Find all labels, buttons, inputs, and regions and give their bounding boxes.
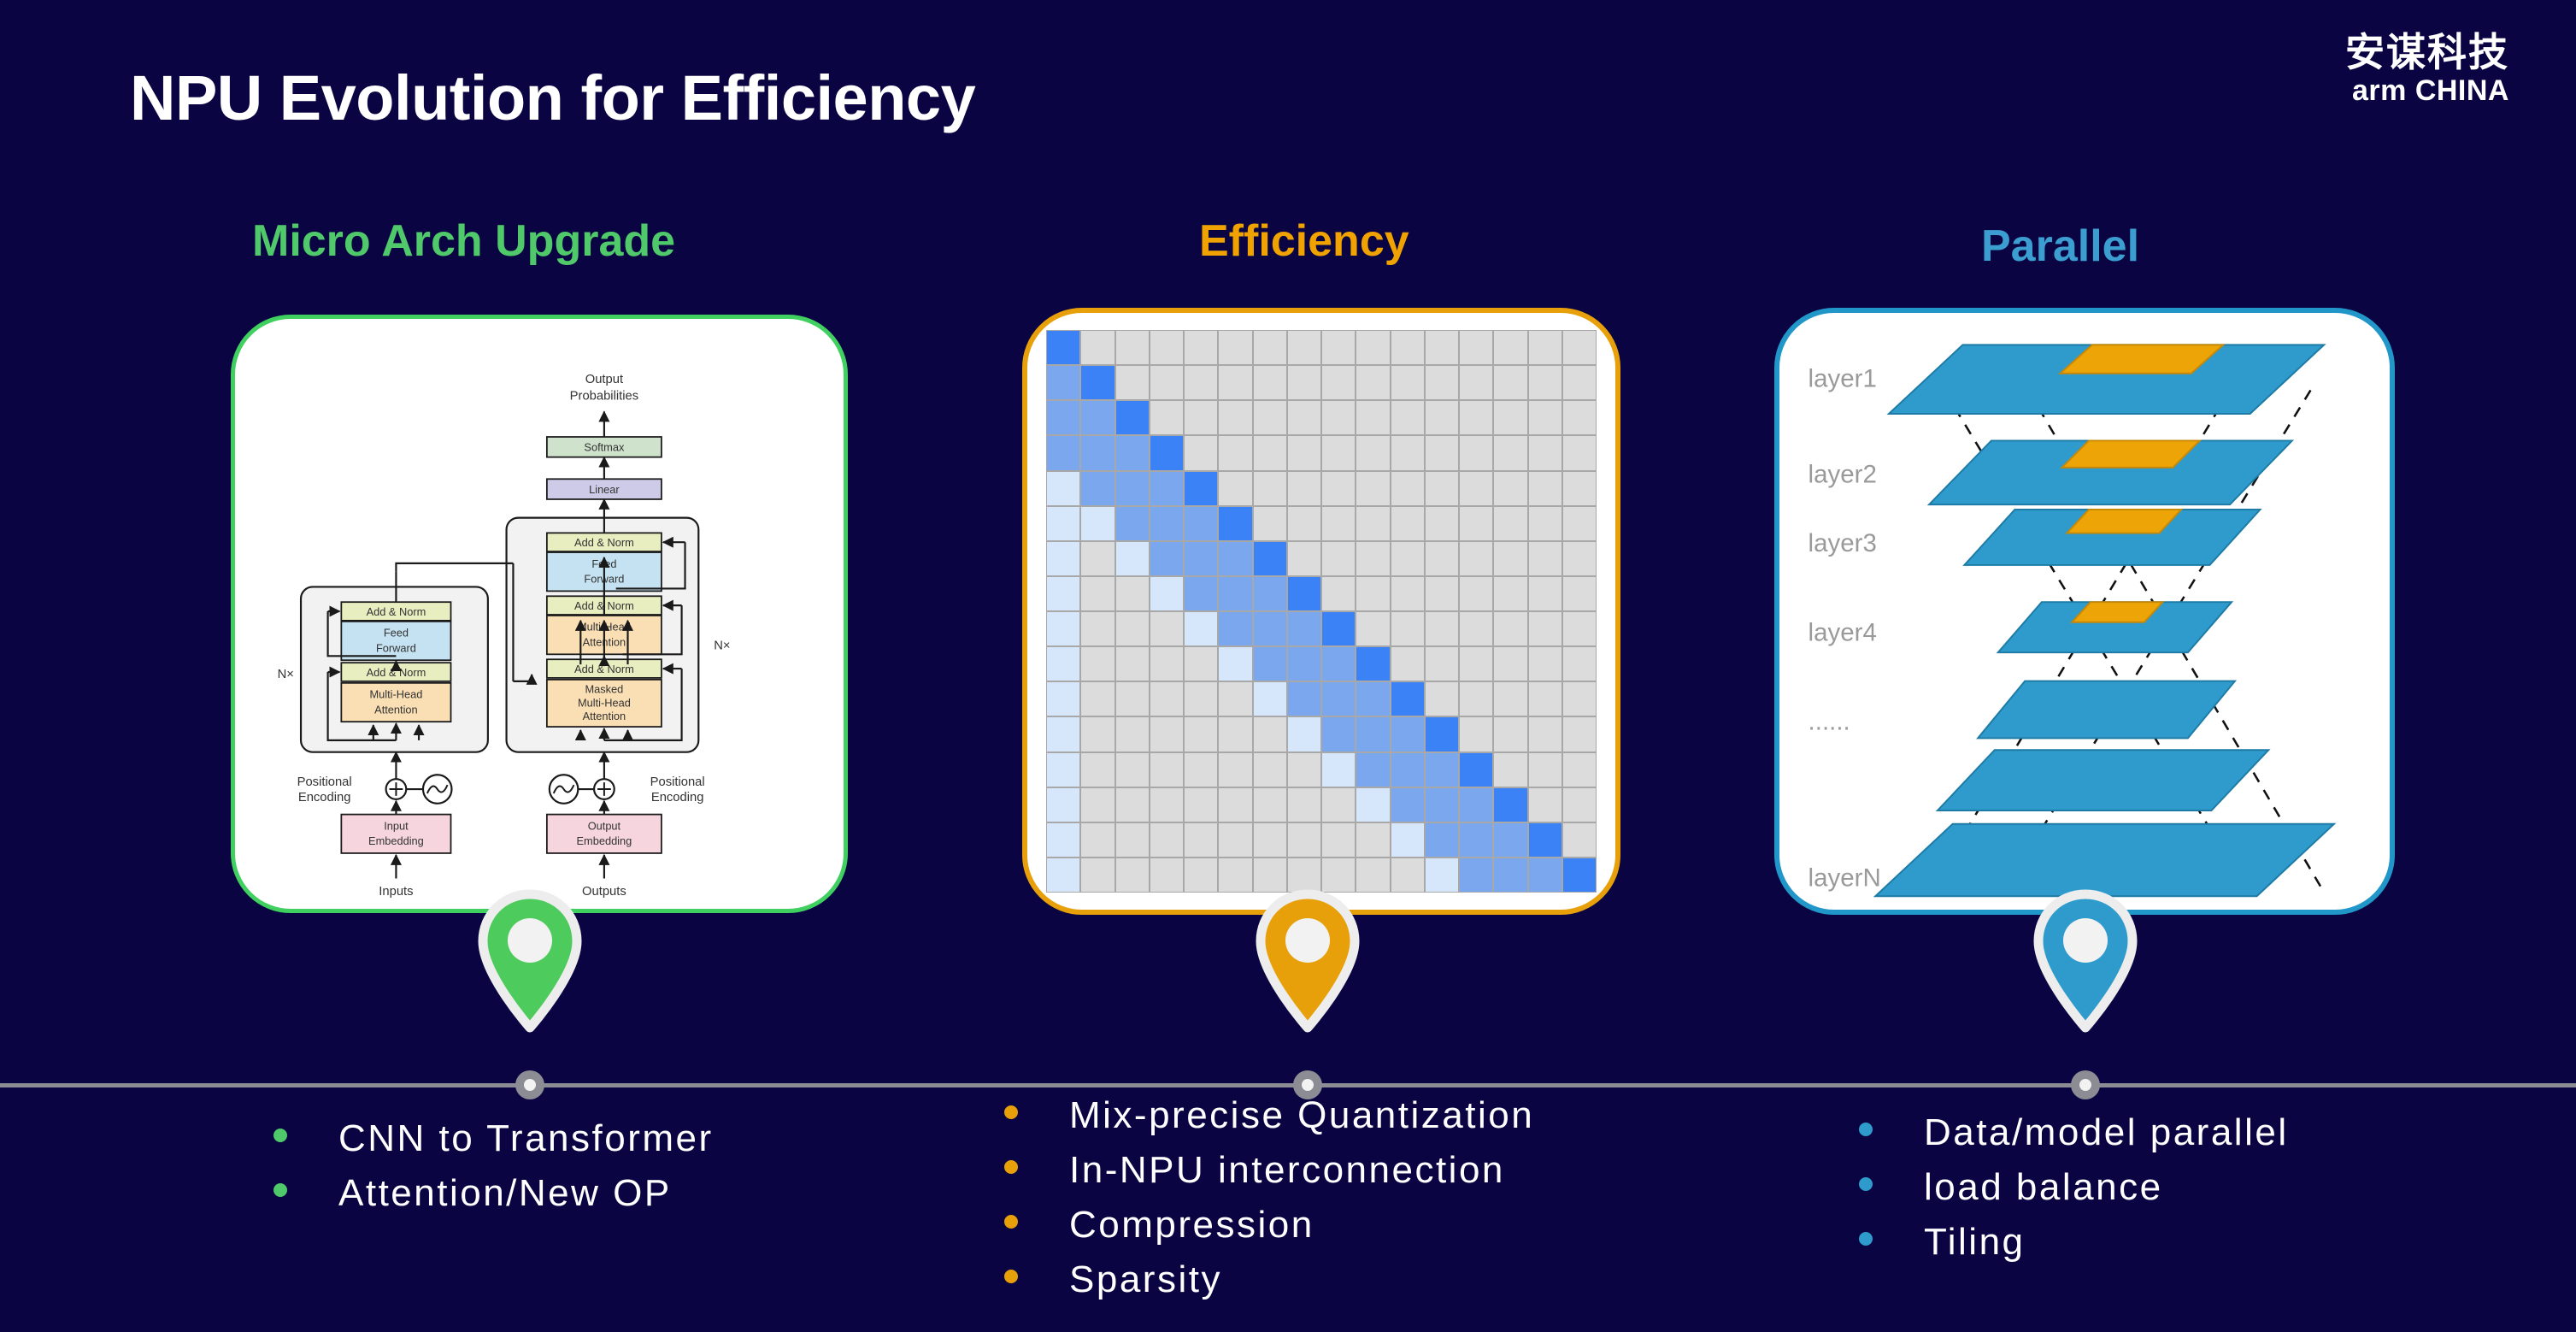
matrix-cell xyxy=(1150,471,1184,506)
attention-mask-grid xyxy=(1046,330,1597,893)
matrix-cell xyxy=(1493,858,1527,893)
matrix-cell xyxy=(1459,471,1493,506)
matrix-cell xyxy=(1391,611,1425,646)
matrix-cell xyxy=(1046,435,1080,470)
timeline-axis xyxy=(0,1083,2576,1087)
matrix-cell xyxy=(1528,646,1562,681)
matrix-cell xyxy=(1287,506,1321,541)
transformer-architecture-figure: Multi-Head Attention Add & Norm Feed For… xyxy=(235,319,844,909)
matrix-cell xyxy=(1321,471,1356,506)
panel-efficiency xyxy=(1022,308,1620,915)
bullet-text: Sparsity xyxy=(1069,1258,1222,1301)
matrix-cell xyxy=(1493,611,1527,646)
matrix-cell xyxy=(1562,646,1597,681)
svg-text:Encoding: Encoding xyxy=(651,791,704,805)
matrix-cell xyxy=(1218,716,1252,751)
matrix-cell xyxy=(1184,681,1218,716)
matrix-cell xyxy=(1528,858,1562,893)
bullet-list-efficiency: Mix-precise QuantizationIn-NPU interconn… xyxy=(1004,1094,1534,1313)
matrix-cell xyxy=(1115,541,1150,576)
matrix-cell xyxy=(1459,611,1493,646)
matrix-cell xyxy=(1184,400,1218,435)
matrix-cell xyxy=(1080,822,1115,858)
matrix-cell xyxy=(1150,752,1184,787)
matrix-cell xyxy=(1562,681,1597,716)
svg-text:Encoding: Encoding xyxy=(298,791,351,805)
matrix-cell xyxy=(1115,681,1150,716)
bullet-dot-icon xyxy=(1004,1270,1018,1283)
matrix-cell xyxy=(1459,365,1493,400)
matrix-cell xyxy=(1150,576,1184,611)
matrix-cell xyxy=(1080,541,1115,576)
matrix-cell xyxy=(1528,400,1562,435)
matrix-cell xyxy=(1425,611,1459,646)
logo-chinese-text: 安谋科技 xyxy=(2345,32,2509,72)
matrix-cell xyxy=(1218,541,1252,576)
matrix-cell xyxy=(1080,400,1115,435)
matrix-cell xyxy=(1425,822,1459,858)
svg-text:Multi-Head: Multi-Head xyxy=(369,688,422,701)
matrix-cell xyxy=(1253,822,1287,858)
svg-text:Attention: Attention xyxy=(583,710,626,722)
matrix-cell xyxy=(1184,471,1218,506)
matrix-cell xyxy=(1115,716,1150,751)
marker-pin-parallel[interactable] xyxy=(2031,889,2140,1033)
matrix-cell xyxy=(1356,611,1390,646)
svg-text:Add & Norm: Add & Norm xyxy=(367,666,426,679)
matrix-cell xyxy=(1080,716,1115,751)
matrix-cell xyxy=(1184,506,1218,541)
bullet-text: Mix-precise Quantization xyxy=(1069,1094,1534,1137)
matrix-cell xyxy=(1150,400,1184,435)
matrix-cell xyxy=(1528,435,1562,470)
matrix-cell xyxy=(1253,646,1287,681)
matrix-cell xyxy=(1459,400,1493,435)
page-title: NPU Evolution for Efficiency xyxy=(130,62,975,134)
matrix-cell xyxy=(1150,822,1184,858)
column-heading-parallel: Parallel xyxy=(1981,221,2139,272)
matrix-cell xyxy=(1287,576,1321,611)
pipeline-parallel-figure: layer1 layer2 layer3 layer4 ...... layer… xyxy=(1779,313,2390,910)
matrix-cell xyxy=(1218,611,1252,646)
matrix-cell xyxy=(1391,435,1425,470)
matrix-cell xyxy=(1321,365,1356,400)
matrix-cell xyxy=(1046,400,1080,435)
matrix-cell xyxy=(1046,365,1080,400)
matrix-cell xyxy=(1391,330,1425,365)
layer-label-1: layer2 xyxy=(1808,461,1877,489)
matrix-cell xyxy=(1150,365,1184,400)
matrix-cell xyxy=(1321,435,1356,470)
matrix-cell xyxy=(1425,471,1459,506)
matrix-cell xyxy=(1150,681,1184,716)
matrix-cell xyxy=(1218,365,1252,400)
matrix-cell xyxy=(1150,716,1184,751)
matrix-cell xyxy=(1115,435,1150,470)
matrix-cell xyxy=(1356,471,1390,506)
matrix-cell xyxy=(1115,646,1150,681)
matrix-cell xyxy=(1046,822,1080,858)
svg-text:Feed: Feed xyxy=(384,627,409,639)
matrix-cell xyxy=(1218,787,1252,822)
matrix-cell xyxy=(1321,611,1356,646)
matrix-cell xyxy=(1425,541,1459,576)
bullet-item: In-NPU interconnection xyxy=(1004,1149,1534,1192)
matrix-cell xyxy=(1493,822,1527,858)
matrix-cell xyxy=(1493,435,1527,470)
matrix-cell xyxy=(1287,471,1321,506)
bullet-text: In-NPU interconnection xyxy=(1069,1149,1505,1192)
marker-pin-micro-arch[interactable] xyxy=(475,889,585,1033)
matrix-cell xyxy=(1287,646,1321,681)
bullet-item: load balance xyxy=(1859,1166,2289,1209)
matrix-cell xyxy=(1218,646,1252,681)
matrix-cell xyxy=(1080,646,1115,681)
panel-parallel: layer1 layer2 layer3 layer4 ...... layer… xyxy=(1774,308,2395,915)
matrix-cell xyxy=(1150,646,1184,681)
sparsity-matrix-figure xyxy=(1046,330,1597,893)
matrix-cell xyxy=(1356,541,1390,576)
matrix-cell xyxy=(1528,576,1562,611)
svg-text:Forward: Forward xyxy=(376,641,416,654)
matrix-cell xyxy=(1425,365,1459,400)
matrix-cell xyxy=(1425,435,1459,470)
svg-text:Add & Norm: Add & Norm xyxy=(367,605,426,618)
matrix-cell xyxy=(1115,822,1150,858)
matrix-cell xyxy=(1391,681,1425,716)
matrix-cell xyxy=(1391,858,1425,893)
matrix-cell xyxy=(1150,787,1184,822)
matrix-cell xyxy=(1321,822,1356,858)
matrix-cell xyxy=(1562,400,1597,435)
arm-china-logo: 安谋科技 arm CHINA xyxy=(2345,32,2509,107)
matrix-cell xyxy=(1528,330,1562,365)
bullet-dot-icon xyxy=(1859,1232,1873,1246)
matrix-cell xyxy=(1562,752,1597,787)
matrix-cell xyxy=(1080,330,1115,365)
matrix-cell xyxy=(1528,681,1562,716)
matrix-cell xyxy=(1080,506,1115,541)
matrix-cell xyxy=(1562,471,1597,506)
matrix-cell xyxy=(1287,681,1321,716)
column-heading-efficiency: Efficiency xyxy=(1199,215,1409,267)
matrix-cell xyxy=(1046,752,1080,787)
bullet-item: Sparsity xyxy=(1004,1258,1534,1301)
matrix-cell xyxy=(1425,400,1459,435)
matrix-cell xyxy=(1562,787,1597,822)
matrix-cell xyxy=(1321,716,1356,751)
timeline-node-micro-arch[interactable] xyxy=(515,1070,544,1099)
matrix-cell xyxy=(1115,787,1150,822)
marker-pin-efficiency[interactable] xyxy=(1253,889,1362,1033)
matrix-cell xyxy=(1391,506,1425,541)
bullet-dot-icon xyxy=(1004,1105,1018,1119)
svg-text:N×: N× xyxy=(278,668,294,681)
matrix-cell xyxy=(1287,611,1321,646)
bullet-item: Mix-precise Quantization xyxy=(1004,1094,1534,1137)
bullet-dot-icon xyxy=(1859,1177,1873,1191)
matrix-cell xyxy=(1391,541,1425,576)
logo-arm-word: arm xyxy=(2352,74,2407,107)
matrix-cell xyxy=(1562,541,1597,576)
matrix-cell xyxy=(1493,330,1527,365)
svg-text:Add & Norm: Add & Norm xyxy=(574,536,634,549)
matrix-cell xyxy=(1562,576,1597,611)
matrix-cell xyxy=(1391,822,1425,858)
bullet-text: Data/model parallel xyxy=(1924,1111,2289,1154)
matrix-cell xyxy=(1528,752,1562,787)
matrix-cell xyxy=(1218,435,1252,470)
matrix-cell xyxy=(1425,646,1459,681)
matrix-cell xyxy=(1562,506,1597,541)
matrix-cell xyxy=(1493,716,1527,751)
matrix-cell xyxy=(1218,822,1252,858)
column-heading-micro-arch: Micro Arch Upgrade xyxy=(252,215,675,267)
svg-text:Positional: Positional xyxy=(650,775,705,789)
bullet-list-parallel: Data/model parallelload balanceTiling xyxy=(1859,1111,2289,1276)
matrix-cell xyxy=(1391,787,1425,822)
matrix-cell xyxy=(1391,471,1425,506)
matrix-cell xyxy=(1528,822,1562,858)
matrix-cell xyxy=(1321,858,1356,893)
matrix-cell xyxy=(1080,611,1115,646)
svg-text:Embedding: Embedding xyxy=(577,834,632,847)
matrix-cell xyxy=(1321,541,1356,576)
bullet-list-micro-arch: CNN to TransformerAttention/New OP xyxy=(273,1117,714,1227)
matrix-cell xyxy=(1080,752,1115,787)
svg-text:Linear: Linear xyxy=(589,483,620,496)
bullet-text: Compression xyxy=(1069,1204,1314,1247)
logo-china-word: CHINA xyxy=(2415,74,2509,107)
matrix-cell xyxy=(1218,400,1252,435)
matrix-cell xyxy=(1046,541,1080,576)
matrix-cell xyxy=(1115,400,1150,435)
svg-text:Probabilities: Probabilities xyxy=(570,390,638,404)
matrix-cell xyxy=(1459,858,1493,893)
matrix-cell xyxy=(1493,681,1527,716)
matrix-cell xyxy=(1425,681,1459,716)
matrix-cell xyxy=(1562,365,1597,400)
matrix-cell xyxy=(1459,787,1493,822)
panel-micro-arch: Multi-Head Attention Add & Norm Feed For… xyxy=(231,315,848,913)
matrix-cell xyxy=(1150,435,1184,470)
matrix-cell xyxy=(1115,330,1150,365)
matrix-cell xyxy=(1115,506,1150,541)
matrix-cell xyxy=(1493,787,1527,822)
matrix-cell xyxy=(1150,858,1184,893)
matrix-cell xyxy=(1253,752,1287,787)
matrix-cell xyxy=(1046,716,1080,751)
matrix-cell xyxy=(1459,716,1493,751)
bullet-dot-icon xyxy=(1859,1123,1873,1136)
matrix-cell xyxy=(1493,541,1527,576)
matrix-cell xyxy=(1528,541,1562,576)
matrix-cell xyxy=(1425,752,1459,787)
matrix-cell xyxy=(1321,506,1356,541)
matrix-cell xyxy=(1184,646,1218,681)
matrix-cell xyxy=(1459,681,1493,716)
matrix-cell xyxy=(1425,330,1459,365)
bullet-item: Compression xyxy=(1004,1204,1534,1247)
matrix-cell xyxy=(1356,858,1390,893)
matrix-cell xyxy=(1287,822,1321,858)
layer-label-4: ...... xyxy=(1808,708,1850,736)
matrix-cell xyxy=(1528,506,1562,541)
slide-root: NPU Evolution for Efficiency 安谋科技 arm CH… xyxy=(0,0,2576,1332)
matrix-cell xyxy=(1562,611,1597,646)
matrix-cell xyxy=(1287,541,1321,576)
matrix-cell xyxy=(1253,330,1287,365)
matrix-cell xyxy=(1080,365,1115,400)
matrix-cell xyxy=(1459,330,1493,365)
matrix-cell xyxy=(1115,858,1150,893)
bullet-dot-icon xyxy=(273,1129,287,1142)
matrix-cell xyxy=(1391,646,1425,681)
bullet-text: Tiling xyxy=(1924,1221,2026,1264)
matrix-cell xyxy=(1150,330,1184,365)
matrix-cell xyxy=(1356,435,1390,470)
matrix-cell xyxy=(1493,400,1527,435)
bullet-item: Data/model parallel xyxy=(1859,1111,2289,1154)
matrix-cell xyxy=(1425,716,1459,751)
matrix-cell xyxy=(1356,576,1390,611)
matrix-cell xyxy=(1562,330,1597,365)
matrix-cell xyxy=(1046,330,1080,365)
matrix-cell xyxy=(1562,858,1597,893)
svg-text:Output: Output xyxy=(588,819,621,832)
matrix-cell xyxy=(1391,400,1425,435)
matrix-cell xyxy=(1218,681,1252,716)
matrix-cell xyxy=(1287,716,1321,751)
matrix-cell xyxy=(1253,681,1287,716)
matrix-cell xyxy=(1115,576,1150,611)
svg-text:Masked: Masked xyxy=(585,683,623,696)
matrix-cell xyxy=(1321,576,1356,611)
matrix-cell xyxy=(1321,330,1356,365)
matrix-cell xyxy=(1184,576,1218,611)
matrix-cell xyxy=(1046,646,1080,681)
matrix-cell xyxy=(1218,576,1252,611)
svg-text:Output: Output xyxy=(585,373,623,386)
svg-text:Positional: Positional xyxy=(297,775,352,789)
matrix-cell xyxy=(1562,822,1597,858)
matrix-cell xyxy=(1218,330,1252,365)
matrix-cell xyxy=(1080,471,1115,506)
matrix-cell xyxy=(1080,858,1115,893)
matrix-cell xyxy=(1218,506,1252,541)
matrix-cell xyxy=(1287,365,1321,400)
matrix-cell xyxy=(1321,681,1356,716)
matrix-cell xyxy=(1253,576,1287,611)
matrix-cell xyxy=(1459,822,1493,858)
matrix-cell xyxy=(1321,400,1356,435)
bullet-item: Tiling xyxy=(1859,1221,2289,1264)
matrix-cell xyxy=(1080,787,1115,822)
matrix-cell xyxy=(1459,541,1493,576)
matrix-cell xyxy=(1150,611,1184,646)
matrix-cell xyxy=(1528,471,1562,506)
matrix-cell xyxy=(1287,858,1321,893)
matrix-cell xyxy=(1115,365,1150,400)
matrix-cell xyxy=(1356,400,1390,435)
matrix-cell xyxy=(1356,646,1390,681)
matrix-cell xyxy=(1356,365,1390,400)
matrix-cell xyxy=(1218,471,1252,506)
matrix-cell xyxy=(1150,541,1184,576)
timeline-node-parallel[interactable] xyxy=(2071,1070,2100,1099)
matrix-cell xyxy=(1150,506,1184,541)
matrix-cell xyxy=(1356,681,1390,716)
bullet-item: CNN to Transformer xyxy=(273,1117,714,1160)
matrix-cell xyxy=(1425,506,1459,541)
matrix-cell xyxy=(1184,752,1218,787)
matrix-cell xyxy=(1046,681,1080,716)
matrix-cell xyxy=(1115,752,1150,787)
matrix-cell xyxy=(1046,858,1080,893)
logo-latin-text: arm CHINA xyxy=(2345,75,2509,107)
matrix-cell xyxy=(1184,365,1218,400)
matrix-cell xyxy=(1493,365,1527,400)
layer-label-0: layer1 xyxy=(1808,365,1877,393)
matrix-cell xyxy=(1253,858,1287,893)
matrix-cell xyxy=(1184,716,1218,751)
matrix-cell xyxy=(1080,576,1115,611)
matrix-cell xyxy=(1184,435,1218,470)
matrix-cell xyxy=(1253,506,1287,541)
matrix-cell xyxy=(1253,435,1287,470)
svg-text:Softmax: Softmax xyxy=(584,441,625,454)
bullet-text: CNN to Transformer xyxy=(338,1117,714,1160)
matrix-cell xyxy=(1253,716,1287,751)
bullet-dot-icon xyxy=(1004,1215,1018,1229)
matrix-cell xyxy=(1391,752,1425,787)
matrix-cell xyxy=(1218,858,1252,893)
matrix-cell xyxy=(1080,435,1115,470)
matrix-cell xyxy=(1493,752,1527,787)
matrix-cell xyxy=(1287,400,1321,435)
bullet-dot-icon xyxy=(1004,1160,1018,1174)
matrix-cell xyxy=(1287,787,1321,822)
matrix-cell xyxy=(1459,435,1493,470)
matrix-cell xyxy=(1253,541,1287,576)
svg-text:Attention: Attention xyxy=(374,703,418,716)
matrix-cell xyxy=(1528,787,1562,822)
matrix-cell xyxy=(1115,611,1150,646)
svg-text:Embedding: Embedding xyxy=(368,834,424,847)
matrix-cell xyxy=(1356,716,1390,751)
layer-label-3: layer4 xyxy=(1808,618,1877,646)
matrix-cell xyxy=(1184,822,1218,858)
matrix-cell xyxy=(1184,858,1218,893)
layer-label-5: layerN xyxy=(1808,863,1881,892)
matrix-cell xyxy=(1528,365,1562,400)
matrix-cell xyxy=(1493,506,1527,541)
matrix-cell xyxy=(1425,858,1459,893)
matrix-cell xyxy=(1459,576,1493,611)
matrix-cell xyxy=(1184,787,1218,822)
bullet-text: load balance xyxy=(1924,1166,2163,1209)
layer-label-2: layer3 xyxy=(1808,529,1877,557)
matrix-cell xyxy=(1459,752,1493,787)
matrix-cell xyxy=(1528,611,1562,646)
matrix-cell xyxy=(1321,752,1356,787)
matrix-cell xyxy=(1493,646,1527,681)
matrix-cell xyxy=(1184,541,1218,576)
matrix-cell xyxy=(1287,435,1321,470)
matrix-cell xyxy=(1321,646,1356,681)
matrix-cell xyxy=(1046,506,1080,541)
matrix-cell xyxy=(1425,787,1459,822)
